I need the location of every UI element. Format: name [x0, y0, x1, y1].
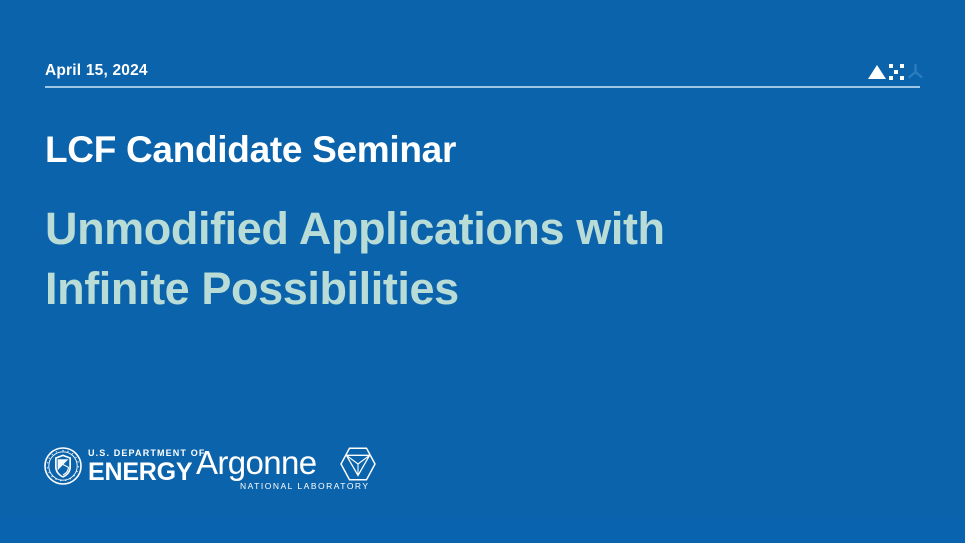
dot-icon [900, 64, 904, 68]
slide-subtitle: LCF Candidate Seminar [45, 129, 456, 171]
decorative-glyph-cluster [866, 62, 926, 84]
dot-icon [900, 76, 904, 80]
argonne-tagline: NATIONAL LABORATORY [240, 481, 370, 491]
argonne-wordmark: Argonne [196, 445, 317, 481]
tripod-glyph [907, 64, 924, 80]
dot-icon [889, 64, 893, 68]
dot-icon [894, 70, 898, 74]
dot-icon [889, 76, 893, 80]
argonne-hexagon-mark-icon [339, 447, 377, 481]
bottom-band [0, 518, 965, 543]
doe-agency-text: ENERGY [88, 459, 206, 485]
slide-header: April 15, 2024 [45, 62, 920, 92]
doe-wordmark: U.S. DEPARTMENT OF ENERGY [88, 448, 206, 485]
slide-date: April 15, 2024 [45, 62, 148, 80]
triangle-glyph [868, 65, 886, 79]
dots-glyph [888, 63, 906, 81]
doe-seal-icon [44, 447, 82, 485]
slide-title-line-1: Unmodified Applications with [45, 199, 845, 259]
argonne-logo: Argonne NATIONAL LABORATORY [196, 445, 386, 493]
doe-logo: U.S. DEPARTMENT OF ENERGY [44, 443, 219, 489]
header-divider [45, 86, 920, 88]
slide-title-line-2: Infinite Possibilities [45, 259, 845, 319]
slide-title: Unmodified Applications with Infinite Po… [45, 199, 845, 319]
presentation-slide: April 15, 2024 LCF Candidate Seminar Unm… [0, 0, 965, 543]
